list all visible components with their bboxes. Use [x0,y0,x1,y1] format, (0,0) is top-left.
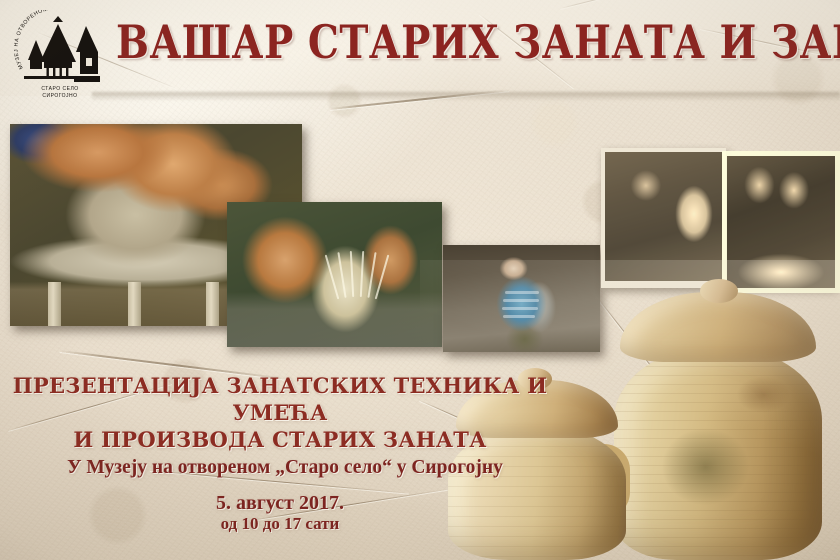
wheel-leg [128,282,141,326]
poster-date: 5. август 2017. [0,492,560,515]
museum-logo: МУЗЕЈ НА ОТВОРЕНОМ СТАРО СЕЛО СИРОГОЈНО [14,10,110,102]
poster-subtitle-line-1: ПРЕЗЕНТАЦИЈА ЗАНАТСКИХ ТЕХНИКА И УМЕЋА [13,373,548,425]
title-band-shadow [92,92,840,101]
wheel-leg [48,282,61,326]
clay-pot-large-throwing-rings [614,348,822,560]
clay-pot-large-lid-knob [700,279,738,303]
logo-caption-line-1: СТАРО СЕЛО [41,86,78,92]
museum-logo-icon: МУЗЕЈ НА ОТВОРЕНОМ СТАРО СЕЛО СИРОГОЈНО [14,10,110,102]
event-poster: МУЗЕЈ НА ОТВОРЕНОМ СТАРО СЕЛО СИРОГОЈНО … [0,0,840,560]
poster-main-title: ВАШАР СТАРИХ ЗАНАТА И ЗАНИМАЊА [116,20,828,66]
wheel-leg [206,282,219,326]
poster-hours: од 10 до 17 сати [0,514,560,534]
poster-venue: У Музеју на отвореном „Старо село“ у Сир… [0,457,570,479]
poster-subtitle-line-2: И ПРОИЗВОДА СТАРИХ ЗАНАТА [0,426,560,453]
photo-basket-weaving [227,202,442,347]
poster-subtitle: ПРЕЗЕНТАЦИЈА ЗАНАТСКИХ ТЕХНИКА И УМЕЋА И… [0,372,560,453]
logo-caption-line-2: СИРОГОЈНО [42,93,77,99]
photo-basket-weaving-image [227,202,442,347]
clay-pot-large [614,292,822,560]
